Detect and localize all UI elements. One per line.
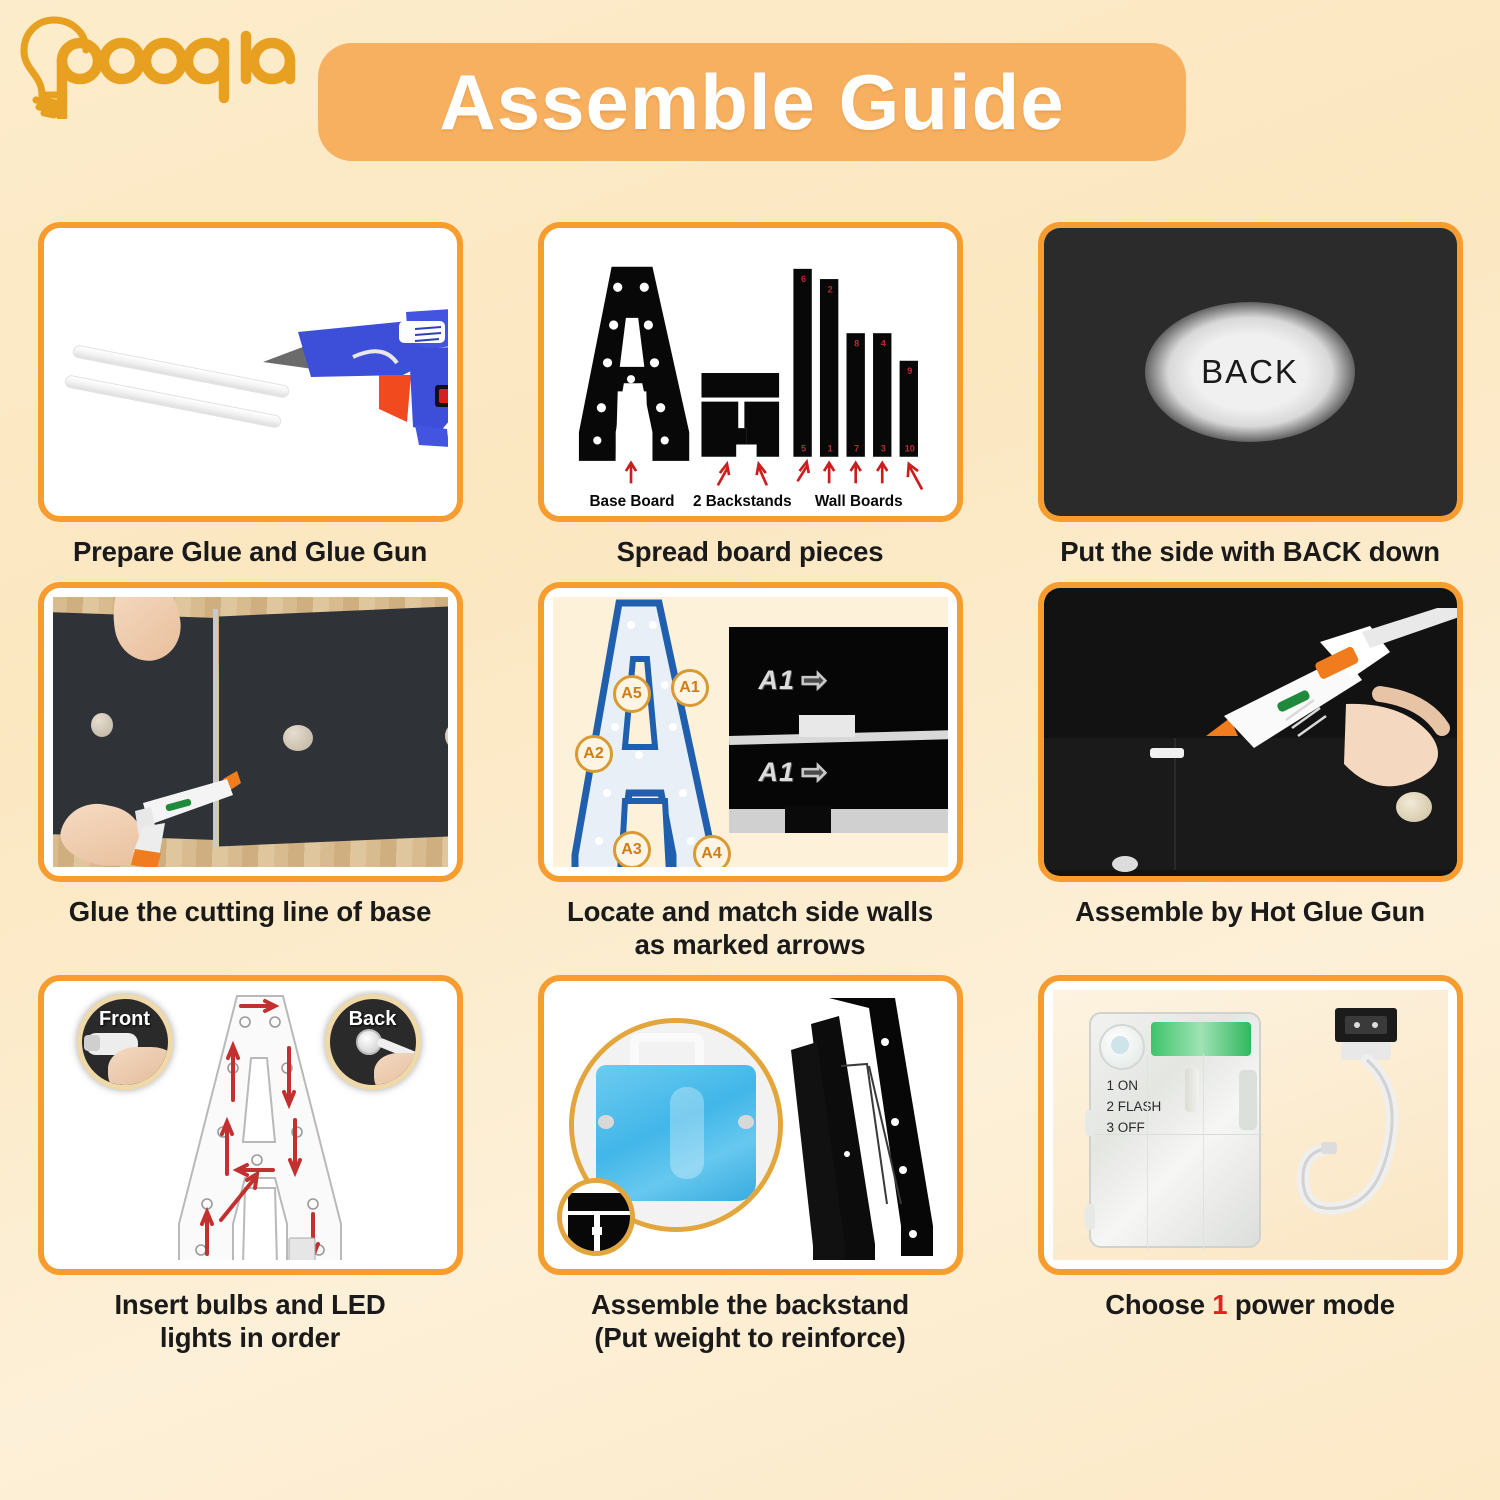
step-7-caption: Insert bulbs and LED lights in order [25, 1289, 475, 1354]
front-label: Front [82, 1008, 168, 1031]
marker-label: A2 [583, 745, 603, 763]
usb-cable-icon [1277, 1004, 1448, 1260]
steps-row-1: Prepare Glue and Glue Gun [0, 222, 1500, 568]
front-inset: Front [77, 994, 173, 1090]
step-card-8: Assemble the backstand (Put weight to re… [500, 975, 1000, 1354]
svg-text:5: 5 [801, 444, 806, 454]
step-card-2: 6 2 8 4 9 5 1 7 3 10 [500, 222, 1000, 568]
back-label: BACK [1201, 353, 1299, 391]
label-backstands: 2 Backstands [693, 493, 792, 510]
bulb-hole [283, 725, 313, 751]
svg-text:1: 1 [827, 444, 832, 454]
step-1-caption: Prepare Glue and Glue Gun [25, 536, 475, 568]
step-4-image [38, 582, 463, 882]
step-5-caption: Locate and match side walls as marked ar… [525, 896, 975, 961]
svg-text:9: 9 [907, 366, 912, 376]
page-title: Assemble Guide [439, 63, 1064, 141]
step-2-caption: Spread board pieces [525, 536, 975, 568]
power-mode-list: 1 ON 2 FLASH 3 OFF [1107, 1076, 1162, 1139]
inset-label-bottom: A1 ➡ [759, 755, 828, 790]
mode-flash: 2 FLASH [1107, 1097, 1162, 1118]
board-pieces-diagram: 6 2 8 4 9 5 1 7 3 10 [544, 228, 957, 516]
glue-gun-icon [203, 257, 448, 477]
step-8-image [538, 975, 963, 1275]
svg-text:10: 10 [904, 444, 914, 454]
step-card-9: 1 ON 2 FLASH 3 OFF [1000, 975, 1500, 1354]
step-1-image [38, 222, 463, 522]
power-mode-number: 1 [1212, 1289, 1227, 1320]
step-8-caption: Assemble the backstand (Put weight to re… [525, 1289, 975, 1354]
step-3-image: BACK [1038, 222, 1463, 522]
right-arrow-icon: ➡ [801, 755, 827, 790]
svg-text:8: 8 [854, 338, 859, 348]
steps-grid: Prepare Glue and Glue Gun [0, 222, 1500, 1354]
step-card-7: Front Back Insert bulbs and LED light [0, 975, 500, 1354]
svg-text:4: 4 [880, 338, 886, 348]
page-title-banner: Assemble Guide [318, 43, 1186, 161]
label-wall-boards: Wall Boards [814, 493, 902, 510]
step-7-image: Front Back [38, 975, 463, 1275]
step-6-caption: Assemble by Hot Glue Gun [1025, 896, 1475, 928]
step-card-1: Prepare Glue and Glue Gun [0, 222, 500, 568]
step-card-3: BACK Put the side with BACK down [1000, 222, 1500, 568]
svg-text:6: 6 [801, 274, 806, 284]
step-card-4: Glue the cutting line of base [0, 582, 500, 961]
brand-logo [18, 14, 308, 119]
label-base-board: Base Board [589, 493, 674, 510]
step-card-5: A5 A1 A2 A3 A4 [500, 582, 1000, 961]
bulb-hole [91, 713, 113, 737]
inset-label-top: A1 ➡ [759, 663, 828, 698]
lightbulb-icon [18, 14, 308, 119]
step-4-caption: Glue the cutting line of base [25, 896, 475, 928]
backstand-pieces [783, 994, 948, 1260]
step-9-caption: Choose 1 power mode [1025, 1289, 1475, 1321]
step-3-caption: Put the side with BACK down [1025, 536, 1475, 568]
marker-a4: A4 [693, 835, 731, 867]
steps-row-3: Front Back Insert bulbs and LED light [0, 975, 1500, 1354]
marker-a3: A3 [613, 831, 651, 867]
marker-label: A3 [621, 841, 641, 859]
battery-box: 1 ON 2 FLASH 3 OFF [1089, 1012, 1261, 1248]
step-6-image [1038, 582, 1463, 882]
step-9-image: 1 ON 2 FLASH 3 OFF [1038, 975, 1463, 1275]
steps-row-2: Glue the cutting line of base [0, 582, 1500, 961]
white-glue-gun-icon [105, 765, 245, 867]
svg-text:2: 2 [827, 284, 832, 294]
back-highlight: BACK [1145, 302, 1355, 442]
marker-label: A4 [701, 845, 721, 863]
right-arrow-icon: ➡ [801, 663, 827, 698]
svg-text:7: 7 [854, 444, 859, 454]
letter-a-outline [555, 597, 735, 867]
step-2-image: 6 2 8 4 9 5 1 7 3 10 [538, 222, 963, 522]
base-board-right [219, 606, 448, 847]
step-card-6: Assemble by Hot Glue Gun [1000, 582, 1500, 961]
step-5-image: A5 A1 A2 A3 A4 [538, 582, 963, 882]
marker-a1: A1 [671, 669, 709, 707]
marker-label: A5 [621, 685, 641, 703]
hot-glue-gun-icon [1194, 608, 1457, 788]
marker-a5: A5 [613, 675, 651, 713]
arrow-match-inset: A1 ➡ A1 ➡ [729, 627, 948, 831]
svg-text:3: 3 [880, 444, 885, 454]
backstand-shape-inset [557, 1178, 635, 1256]
mode-on: 1 ON [1107, 1076, 1162, 1097]
mode-off: 3 OFF [1107, 1118, 1162, 1139]
marker-a2: A2 [575, 735, 613, 773]
back-label: Back [330, 1008, 416, 1031]
page-header: Assemble Guide [0, 0, 1500, 215]
marker-label: A1 [679, 679, 699, 697]
back-inset: Back [325, 994, 421, 1090]
